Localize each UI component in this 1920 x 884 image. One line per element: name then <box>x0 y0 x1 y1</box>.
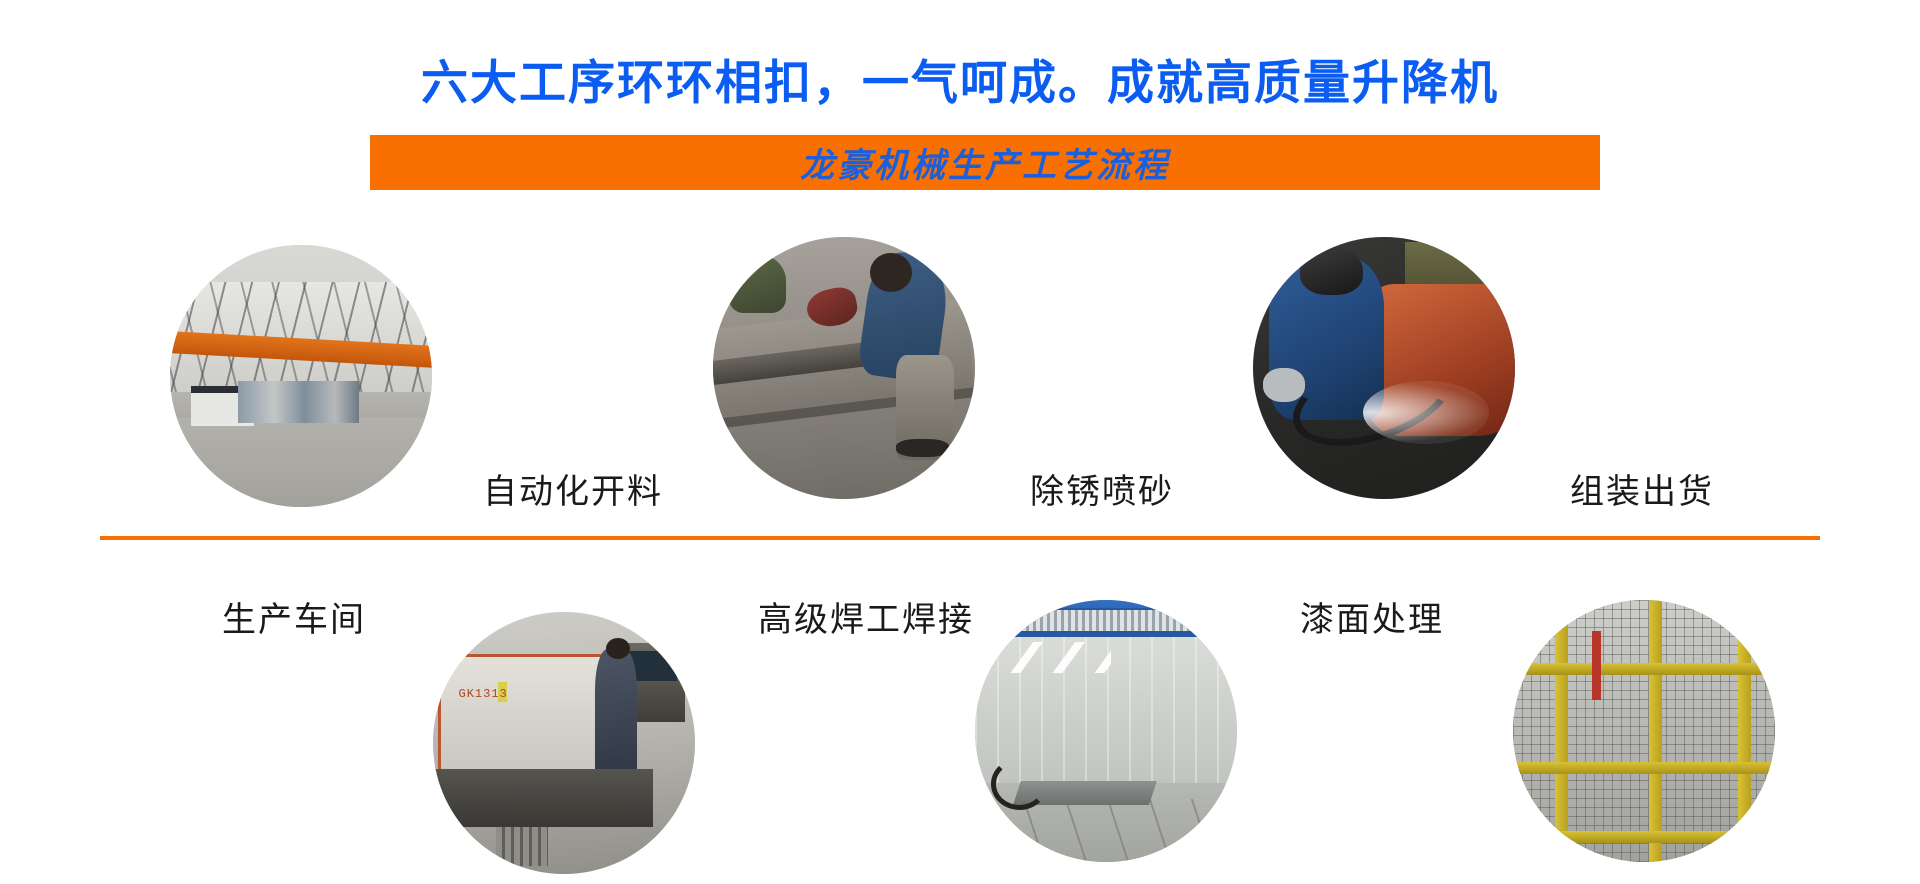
cage-post <box>1649 600 1662 862</box>
cage-mesh <box>1513 600 1775 862</box>
step-label-senior-welding: 高级焊工焊接 <box>758 592 974 641</box>
step-photo-sandblast <box>1253 237 1515 499</box>
page-title: 六大工序环环相扣，一气呵成。成就高质量升降机 <box>0 44 1920 113</box>
welding-photo <box>713 237 975 499</box>
assembly-cage-photo <box>1513 600 1775 862</box>
step-label-automated-cutting: 自动化开料 <box>483 464 663 513</box>
second-worker <box>729 255 787 313</box>
cnc-lathe-photo: GK1313 <box>433 612 695 874</box>
workshop-machines <box>238 381 359 423</box>
blaster-helmet <box>1300 247 1363 294</box>
step-photo-paint-booth <box>975 600 1237 862</box>
cage-rail <box>1513 663 1775 675</box>
booth-rails <box>1001 799 1211 862</box>
workshop-photo <box>170 245 432 507</box>
cage-post <box>1555 600 1568 862</box>
cage-red-bar <box>1592 631 1601 699</box>
section-banner: 龙豪机械生产工艺流程 <box>370 135 1600 190</box>
step-label-assembly-shipping: 组装出货 <box>1570 464 1714 513</box>
lathe-body: GK1313 <box>438 654 617 786</box>
section-banner-label: 龙豪机械生产工艺流程 <box>370 135 1600 190</box>
booth-vents <box>985 608 1230 633</box>
machine-model-label: GK1313 <box>459 687 508 701</box>
step-photo-welding <box>713 237 975 499</box>
sandblast-photo <box>1253 237 1515 499</box>
welder-head <box>870 253 912 292</box>
booth-hose <box>991 758 1048 810</box>
spray-plume <box>1363 381 1489 444</box>
welder-shoe <box>896 439 948 457</box>
step-label-paint-finishing: 漆面处理 <box>1300 592 1444 641</box>
step-photo-assembly <box>1513 600 1775 862</box>
step-photo-workshop <box>170 245 432 507</box>
lathe-base <box>433 769 653 827</box>
cage-post <box>1738 600 1751 862</box>
blaster-glove <box>1263 368 1305 402</box>
cage-rail <box>1513 831 1775 843</box>
horizontal-divider <box>100 536 1820 540</box>
paint-booth-photo <box>975 600 1237 862</box>
step-photo-cnc-lathe: GK1313 <box>433 612 695 874</box>
step-label-sandblasting: 除锈喷砂 <box>1030 464 1174 513</box>
booth-lights <box>991 642 1112 673</box>
step-label-production-workshop: 生产车间 <box>222 592 366 641</box>
workshop-floor <box>170 418 432 507</box>
machined-parts <box>496 827 548 866</box>
lathe-operator-head <box>606 638 630 659</box>
cage-rail <box>1513 762 1775 774</box>
lathe-operator-body <box>595 649 637 785</box>
